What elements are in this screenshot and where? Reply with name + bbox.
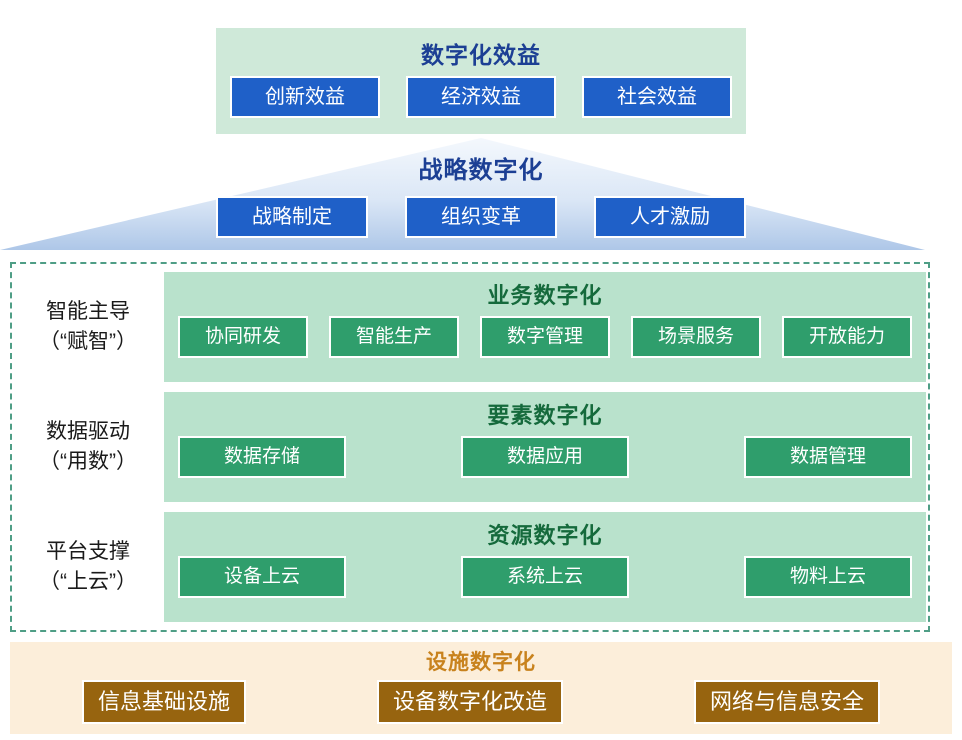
layer-label-line2: （“用数”） (39, 447, 137, 477)
facility-chip-it-infrastructure[interactable]: 信息基础设施 (82, 680, 246, 724)
layer-row-business: 智能主导 （“赋智”） 业务数字化 协同研发 智能生产 数字管理 场景服务 开放… (12, 272, 928, 382)
facility-chip-network-security[interactable]: 网络与信息安全 (694, 680, 880, 724)
resource-chip-material-cloud[interactable]: 物料上云 (744, 556, 912, 598)
layer-label-line1: 智能主导 (46, 297, 130, 327)
factor-chip-data-management[interactable]: 数据管理 (744, 436, 912, 478)
business-chip-collab-rd[interactable]: 协同研发 (178, 316, 308, 358)
layer-row-resource: 平台支撑 （“上云”） 资源数字化 设备上云 系统上云 物料上云 (12, 512, 928, 622)
layer-label-data-driven: 数据驱动 （“用数”） (12, 392, 164, 502)
factor-chip-data-application[interactable]: 数据应用 (461, 436, 629, 478)
resource-digitalization-title: 资源数字化 (164, 518, 926, 550)
facility-chip-row: 信息基础设施 设备数字化改造 网络与信息安全 (82, 680, 880, 724)
business-chip-scenario-service[interactable]: 场景服务 (631, 316, 761, 358)
factor-digitalization-title: 要素数字化 (164, 398, 926, 430)
facility-digitalization-title: 设施数字化 (10, 646, 952, 676)
benefit-chip-economic[interactable]: 经济效益 (406, 76, 556, 118)
business-chip-open-capability[interactable]: 开放能力 (782, 316, 912, 358)
strategy-digitalization-title: 战略数字化 (0, 150, 962, 185)
facility-chip-equipment-retrofit[interactable]: 设备数字化改造 (377, 680, 563, 724)
digital-benefit-panel: 数字化效益 创新效益 经济效益 社会效益 (216, 28, 746, 134)
strategy-chip-planning[interactable]: 战略制定 (216, 196, 368, 238)
layer-label-line1: 数据驱动 (46, 417, 130, 447)
factor-chip-row: 数据存储 数据应用 数据管理 (178, 436, 912, 478)
strategy-chip-talent-incentive[interactable]: 人才激励 (594, 196, 746, 238)
layer-label-intelligent-leading: 智能主导 （“赋智”） (12, 272, 164, 382)
facility-digitalization-panel: 设施数字化 信息基础设施 设备数字化改造 网络与信息安全 (10, 642, 952, 734)
resource-digitalization-panel: 资源数字化 设备上云 系统上云 物料上云 (164, 512, 926, 622)
core-digitalization-dashed-container: 智能主导 （“赋智”） 业务数字化 协同研发 智能生产 数字管理 场景服务 开放… (10, 262, 930, 632)
digital-benefit-title: 数字化效益 (216, 36, 746, 70)
strategy-digitalization-section: 战略数字化 战略制定 组织变革 人才激励 (0, 138, 962, 256)
layer-label-line2: （“上云”） (39, 567, 137, 597)
digital-benefit-chip-row: 创新效益 经济效益 社会效益 (230, 76, 732, 118)
layer-label-platform-support: 平台支撑 （“上云”） (12, 512, 164, 622)
layer-row-factor: 数据驱动 （“用数”） 要素数字化 数据存储 数据应用 数据管理 (12, 392, 928, 502)
strategy-chip-row: 战略制定 组织变革 人才激励 (216, 196, 746, 238)
business-chip-row: 协同研发 智能生产 数字管理 场景服务 开放能力 (178, 316, 912, 358)
layer-label-line1: 平台支撑 (46, 537, 130, 567)
factor-chip-data-storage[interactable]: 数据存储 (178, 436, 346, 478)
benefit-chip-innovation[interactable]: 创新效益 (230, 76, 380, 118)
resource-chip-row: 设备上云 系统上云 物料上云 (178, 556, 912, 598)
business-chip-smart-production[interactable]: 智能生产 (329, 316, 459, 358)
business-digitalization-panel: 业务数字化 协同研发 智能生产 数字管理 场景服务 开放能力 (164, 272, 926, 382)
factor-digitalization-panel: 要素数字化 数据存储 数据应用 数据管理 (164, 392, 926, 502)
business-digitalization-title: 业务数字化 (164, 278, 926, 310)
resource-chip-equipment-cloud[interactable]: 设备上云 (178, 556, 346, 598)
benefit-chip-social[interactable]: 社会效益 (582, 76, 732, 118)
business-chip-digital-management[interactable]: 数字管理 (480, 316, 610, 358)
resource-chip-system-cloud[interactable]: 系统上云 (461, 556, 629, 598)
strategy-chip-org-reform[interactable]: 组织变革 (405, 196, 557, 238)
layer-label-line2: （“赋智”） (39, 327, 137, 357)
